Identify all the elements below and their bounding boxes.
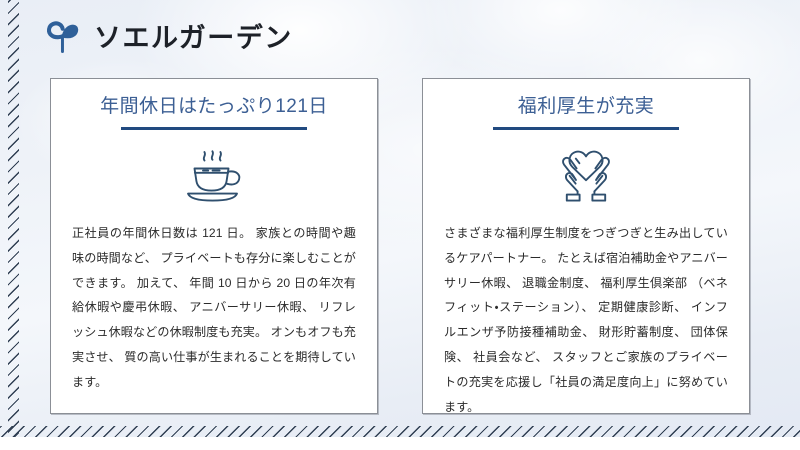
card-title: 福利厚生が充実 [423, 79, 749, 120]
card-title: 年間休日はたっぷり121日 [51, 79, 377, 120]
slide-base-strip [0, 437, 800, 450]
brand-name: ソエルガーデン [94, 25, 293, 52]
brand-header: ソエルガーデン [42, 17, 293, 59]
card-body-text: さまざまな福利厚生制度をつぎつぎと生み出しているケアパートナー。 たとえば宿泊補… [423, 207, 749, 420]
diagonal-hatch-border-left [8, 0, 19, 450]
card-body-text: 正社員の年間休日数は 121 日。 家族との時間や趣味の時間など、 プライベート… [51, 207, 377, 395]
slide-canvas: ソエルガーデン 年間休日はたっぷり121日 [0, 0, 800, 450]
hands-holding-heart-icon [423, 143, 749, 207]
title-underline-rule [121, 127, 307, 130]
coffee-cup-icon [51, 143, 377, 207]
diagonal-hatch-border-bottom [0, 426, 800, 437]
info-card-annual-holidays: 年間休日はたっぷり121日 [50, 78, 378, 414]
sprout-leaf-icon [42, 17, 84, 59]
title-underline-rule [493, 127, 679, 130]
info-card-welfare-benefits: 福利厚生が充実 [422, 78, 750, 414]
